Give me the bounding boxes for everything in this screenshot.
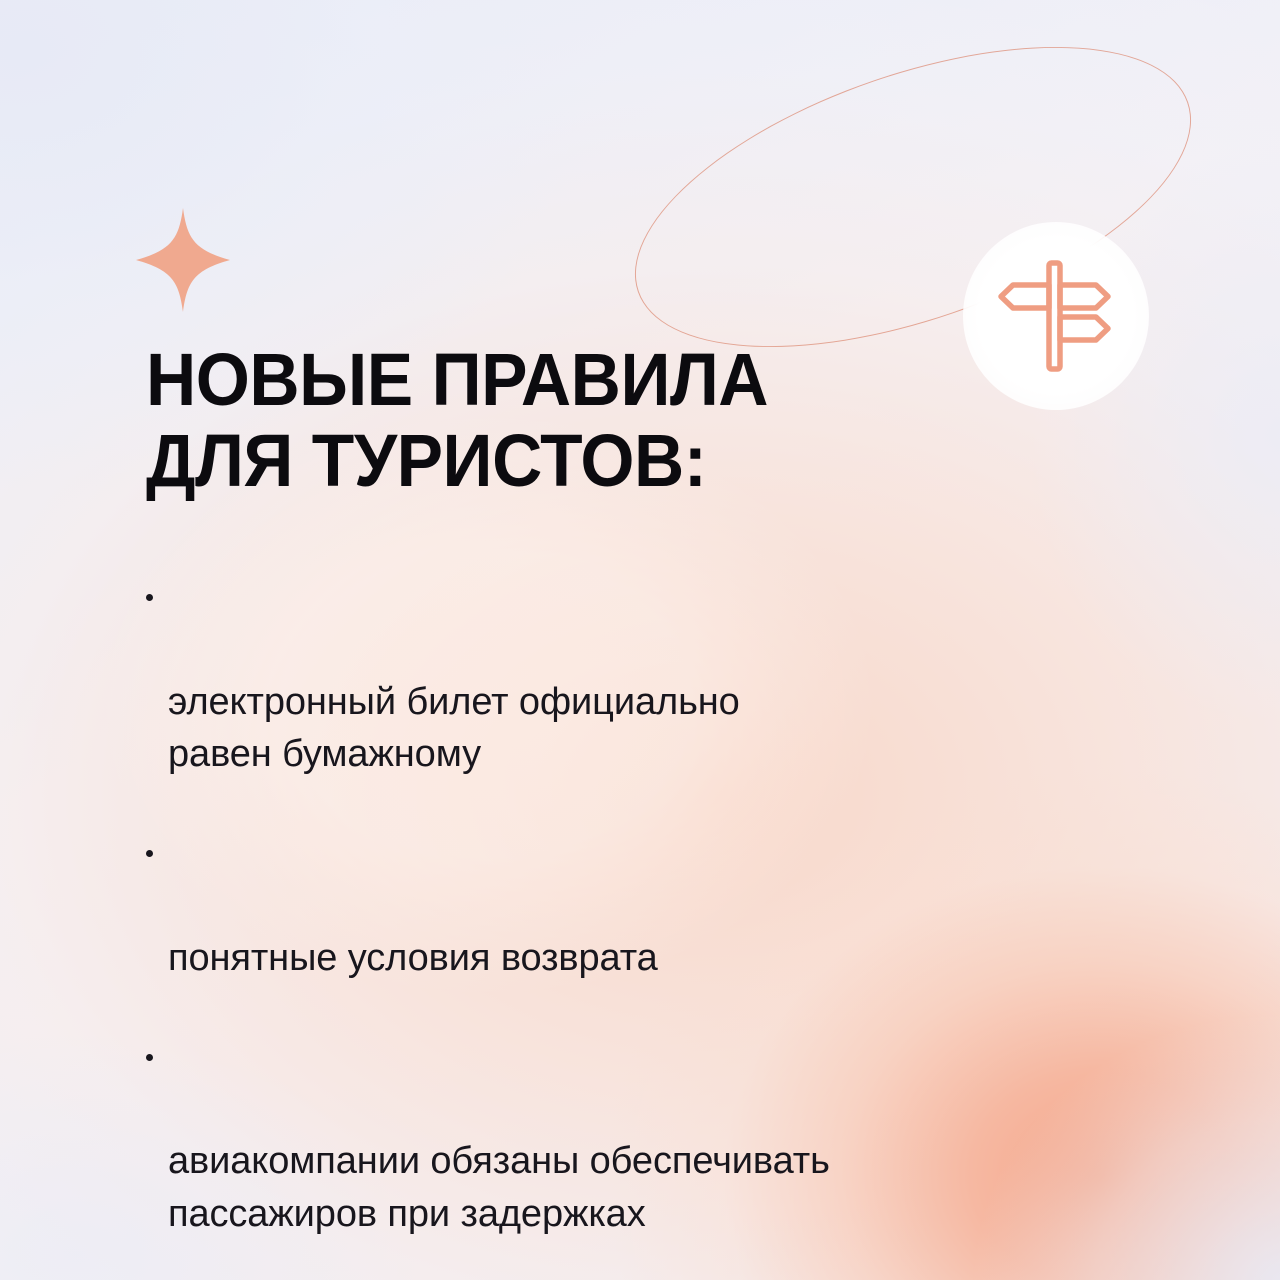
list-item: электронный билет официально равен бумаж… <box>146 570 1206 781</box>
list-item: понятные условия возврата <box>146 826 1206 984</box>
sparkle-icon <box>136 208 230 312</box>
poster-content: НОВЫЕ ПРАВИЛА ДЛЯ ТУРИСТОВ: электронный … <box>146 340 1206 501</box>
rules-list: электронный билет официально равен бумаж… <box>146 570 1206 1280</box>
page-title: НОВЫЕ ПРАВИЛА ДЛЯ ТУРИСТОВ: <box>146 340 1142 501</box>
list-item-label: авиакомпании обязаны обеспечивать пассаж… <box>168 1140 830 1235</box>
poster-canvas: НОВЫЕ ПРАВИЛА ДЛЯ ТУРИСТОВ: электронный … <box>0 0 1280 1280</box>
bullet-dot-icon <box>146 1054 153 1061</box>
list-item-label: понятные условия возврата <box>168 937 658 979</box>
bullet-dot-icon <box>146 594 153 601</box>
list-item-label: электронный билет официально равен бумаж… <box>168 681 740 776</box>
bullet-dot-icon <box>146 850 153 857</box>
list-item: авиакомпании обязаны обеспечивать пассаж… <box>146 1030 1206 1241</box>
